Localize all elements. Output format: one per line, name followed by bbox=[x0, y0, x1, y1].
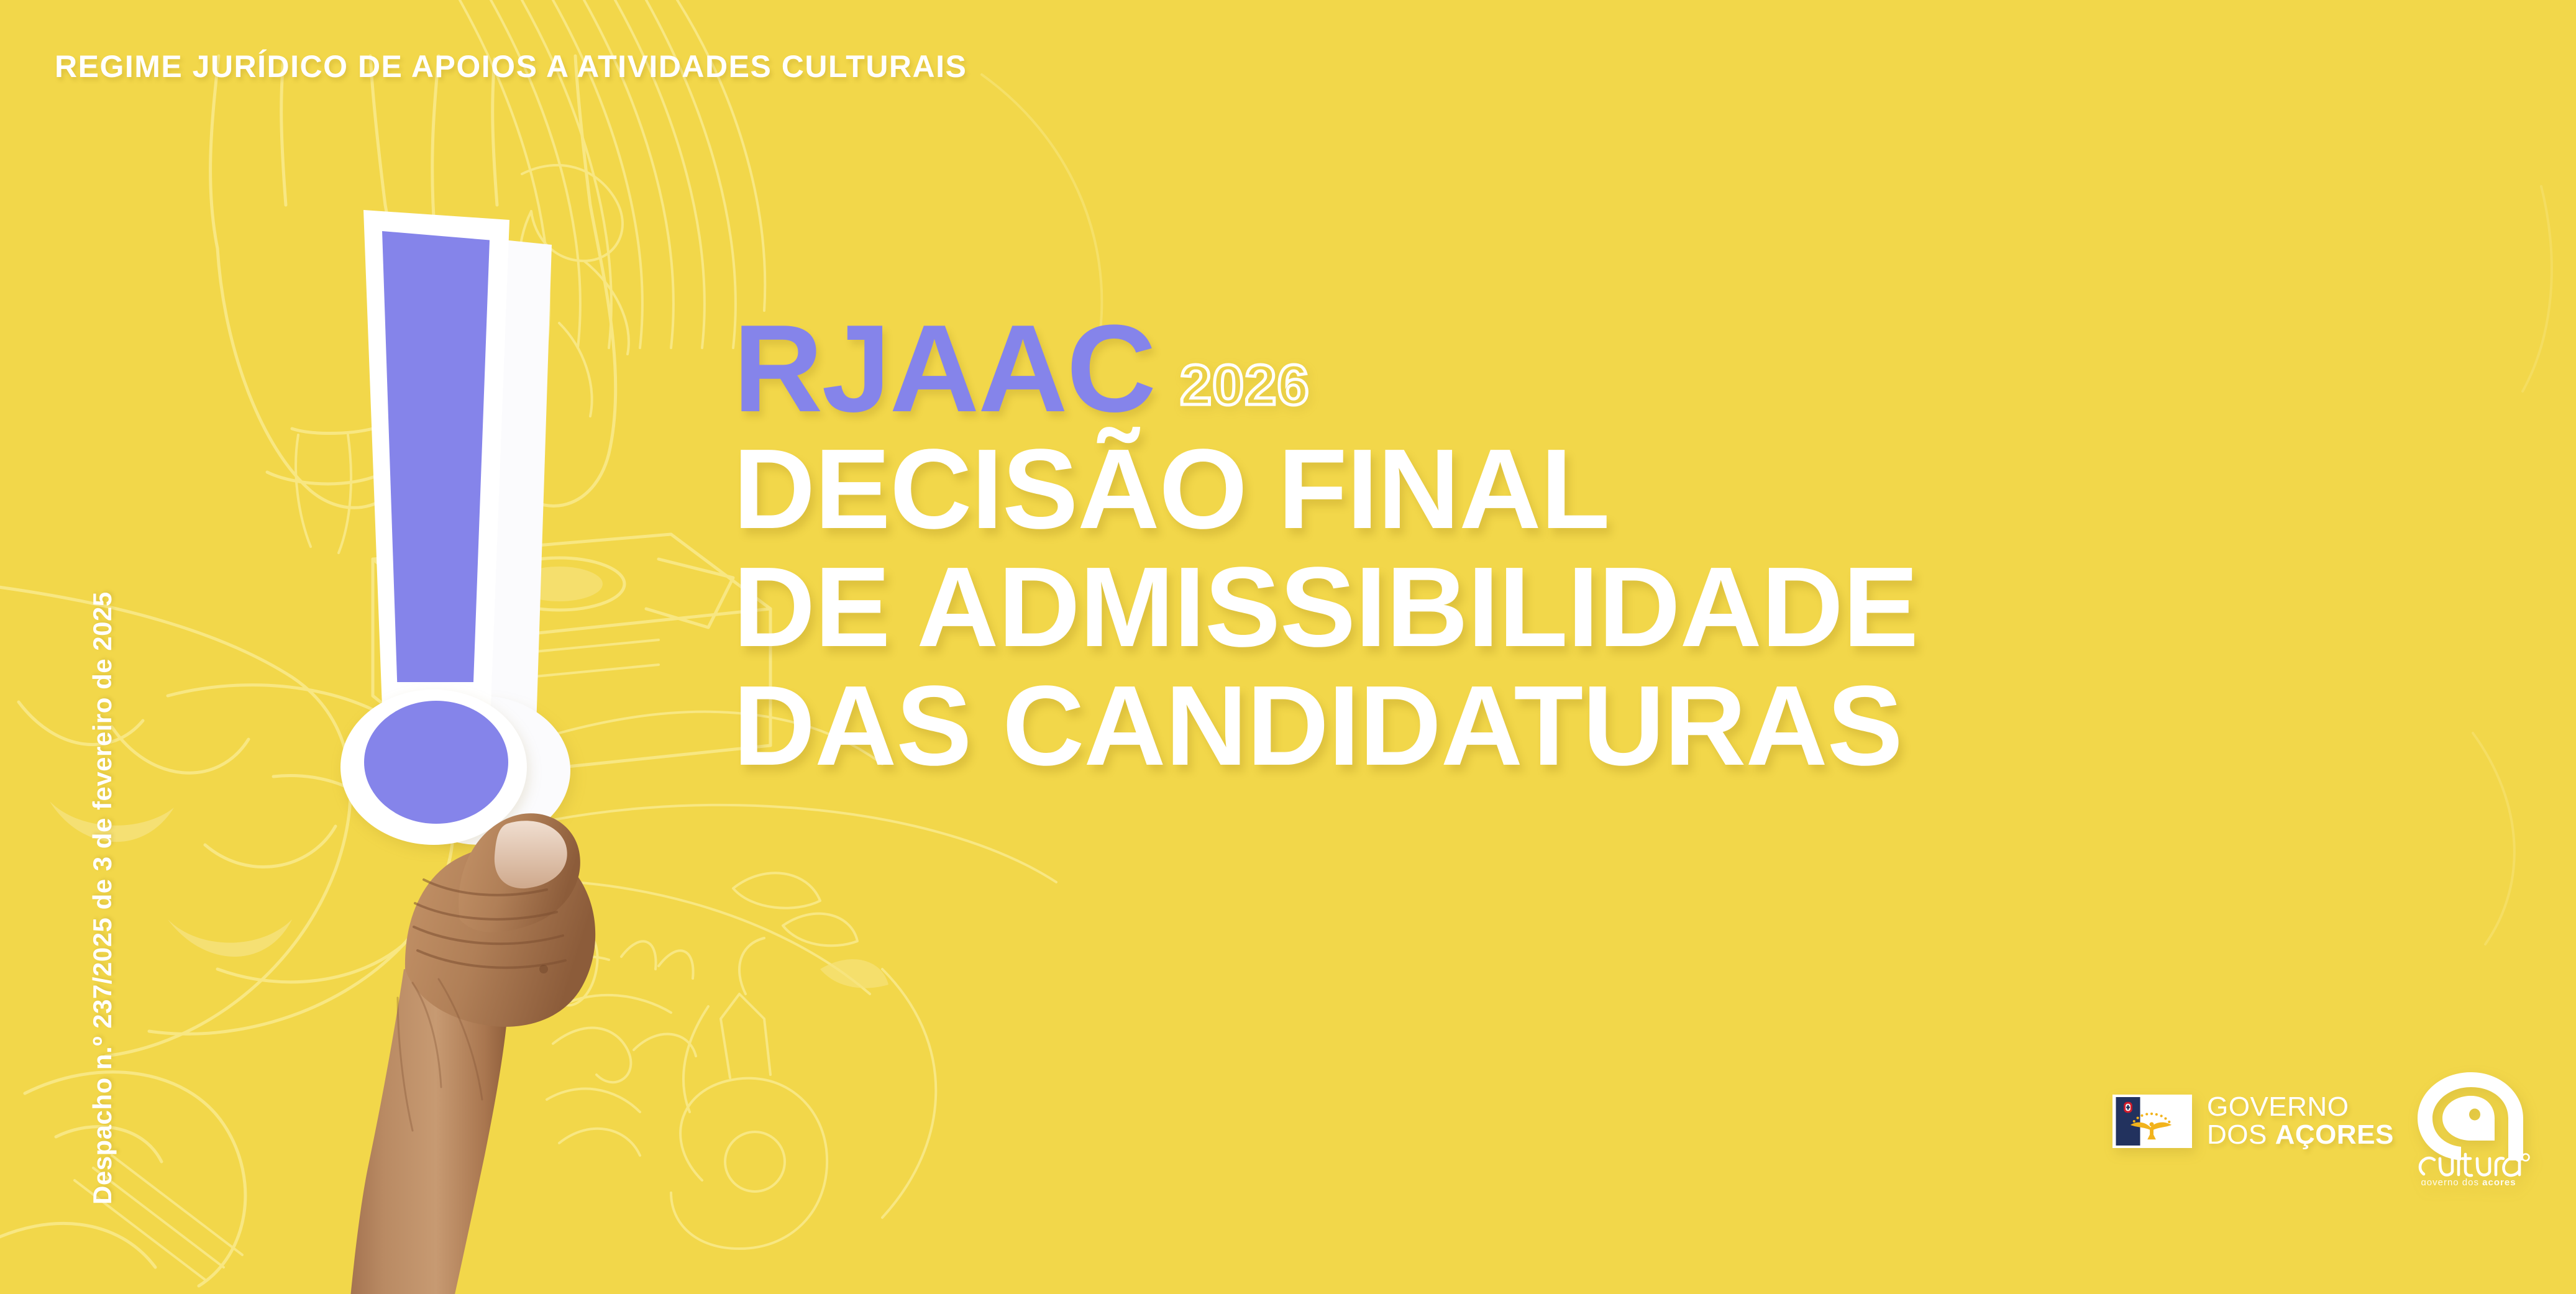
headline-block: RJAAC 2026 DECISÃO FINAL DE ADMISSIBILID… bbox=[733, 311, 2535, 785]
headline-line-2: DE ADMISSIBILIDADE bbox=[733, 548, 2535, 666]
governo-acores: AÇORES bbox=[2275, 1119, 2394, 1150]
governo-dos-acores-logo: GOVERNO DOS AÇORES bbox=[2112, 1093, 2394, 1149]
ca-monogram-icon bbox=[2418, 1072, 2523, 1160]
headline-line-1: DECISÃO FINAL bbox=[733, 430, 2535, 548]
azores-flag-icon bbox=[2112, 1095, 2192, 1148]
cultura-wordmark bbox=[2420, 1149, 2519, 1175]
hand-holding-icon bbox=[137, 764, 646, 1294]
cultura-tagline: governo dos açores bbox=[2421, 1177, 2516, 1185]
headline-line-3: DAS CANDIDATURAS bbox=[733, 667, 2535, 785]
leaf-art bbox=[733, 873, 888, 988]
governo-line-2: DOS AÇORES bbox=[2207, 1121, 2394, 1149]
cultura-logo: governo dos açores bbox=[2401, 1067, 2535, 1185]
governo-line-1: GOVERNO bbox=[2207, 1093, 2394, 1121]
program-acronym: RJAAC bbox=[733, 311, 1155, 427]
poster-canvas: .ln{fill:none;stroke:#f8e782;stroke-widt… bbox=[0, 0, 2576, 1294]
governo-wordmark: GOVERNO DOS AÇORES bbox=[2207, 1093, 2394, 1149]
exclamation-illustration bbox=[348, 205, 640, 1294]
guitar-art bbox=[671, 938, 827, 1249]
program-year: 2026 bbox=[1180, 357, 1310, 427]
registered-mark-icon bbox=[2523, 1154, 2529, 1161]
program-year-row: RJAAC 2026 bbox=[733, 311, 2535, 427]
governo-dos: DOS bbox=[2207, 1119, 2275, 1150]
eyebrow-title: REGIME JURÍDICO DE APOIOS A ATIVIDADES C… bbox=[55, 48, 967, 84]
despacho-reference: Despacho n.º 237/2025 de 3 de fevereiro … bbox=[88, 645, 117, 1205]
